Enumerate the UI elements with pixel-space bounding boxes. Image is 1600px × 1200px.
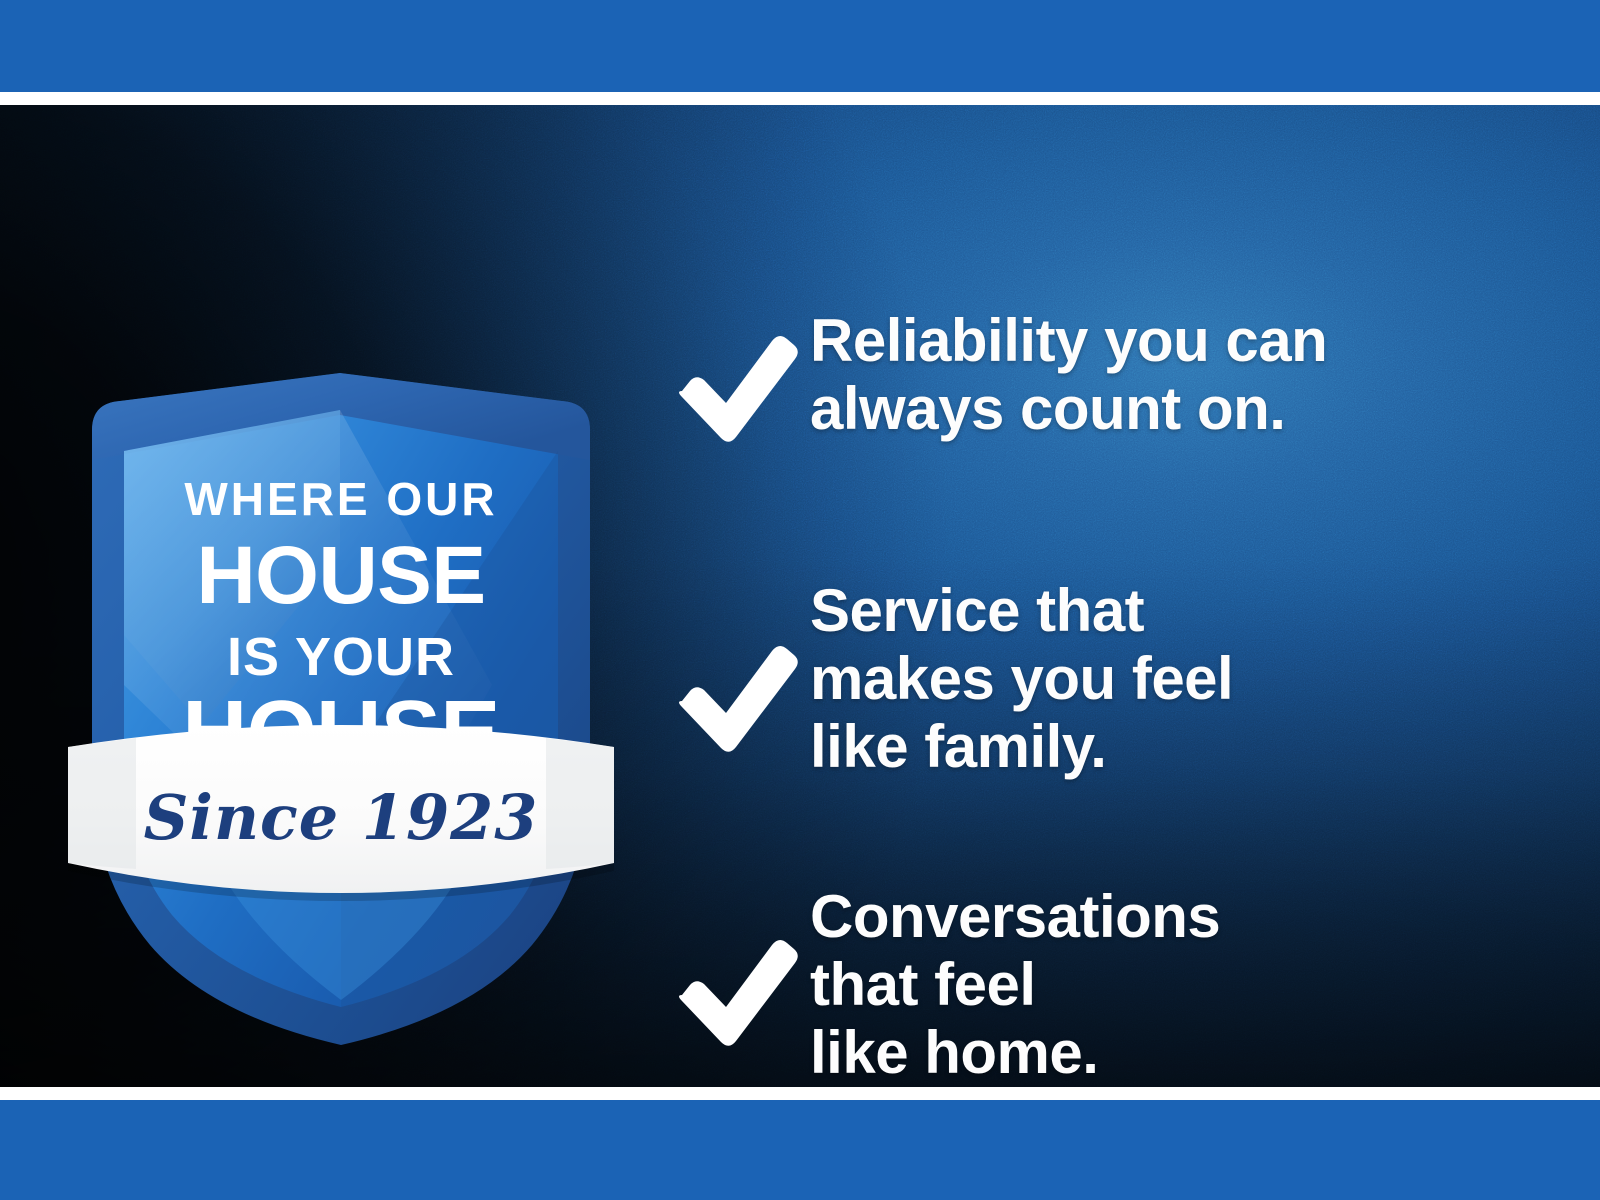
benefit-text: Service that makes you feel like family.: [810, 577, 1233, 780]
logo-line-0: WHERE OUR: [184, 473, 497, 525]
top-brand-bar: [0, 0, 1600, 92]
bottom-brand-bar: [0, 1100, 1600, 1200]
checkmark-icon: [668, 937, 800, 1057]
benefits-list: Reliability you can always count on. Ser…: [668, 285, 1548, 1087]
main-stage: WHERE OUR HOUSE IS YOUR HOUSE Since 1923: [0, 105, 1600, 1087]
checkmark-icon: [668, 643, 800, 763]
benefit-text: Conversations that feel like home.: [810, 883, 1220, 1086]
benefit-item: Service that makes you feel like family.: [668, 577, 1233, 780]
logo-line-2: IS YOUR: [227, 627, 455, 687]
checkmark-icon: [668, 333, 800, 453]
since-banner: Since 1923: [68, 725, 614, 901]
logo-shield: WHERE OUR HOUSE IS YOUR HOUSE Since 1923: [62, 255, 622, 1045]
benefit-text: Reliability you can always count on.: [810, 307, 1327, 443]
logo-line-1: HOUSE: [196, 530, 485, 621]
benefit-item: Reliability you can always count on.: [668, 307, 1327, 453]
poster-canvas: WHERE OUR HOUSE IS YOUR HOUSE Since 1923: [0, 0, 1600, 1200]
benefit-item: Conversations that feel like home.: [668, 883, 1220, 1086]
since-banner-text: Since 1923: [144, 781, 539, 854]
